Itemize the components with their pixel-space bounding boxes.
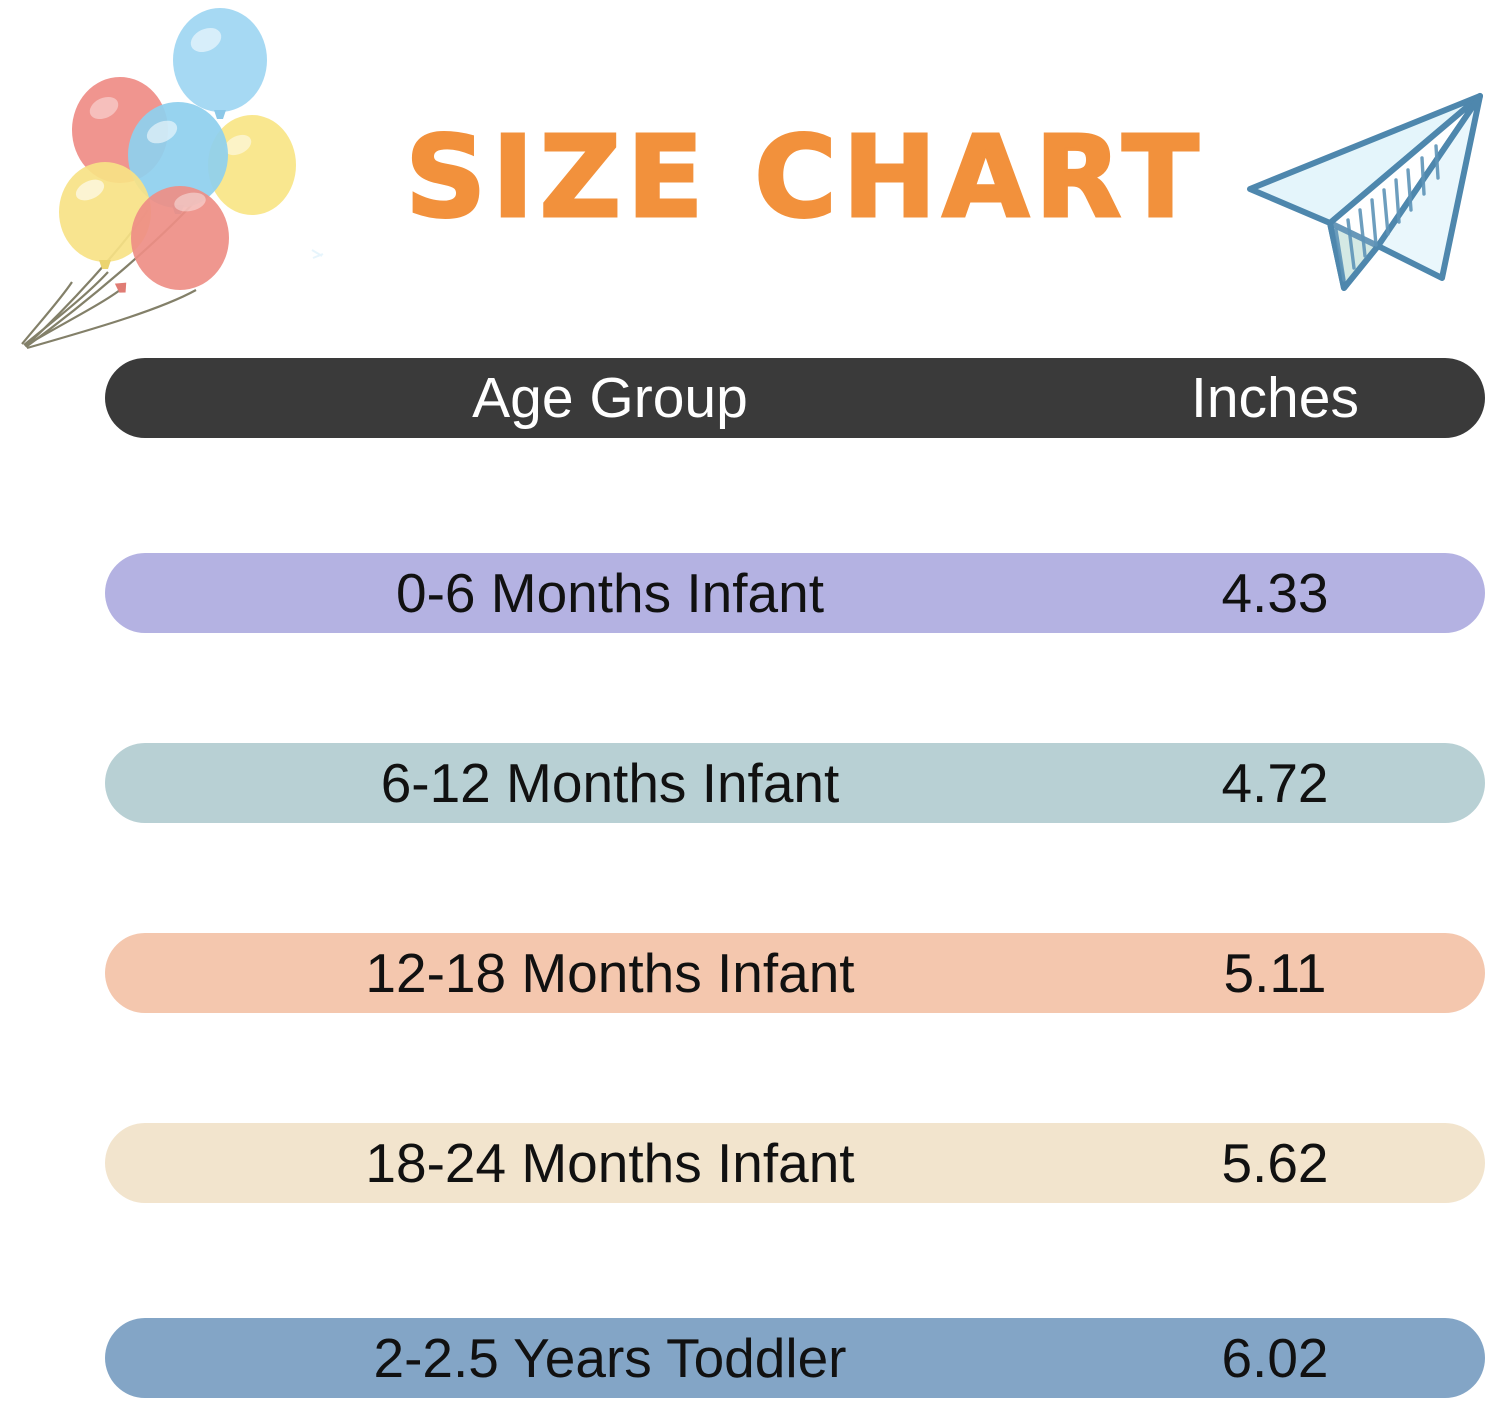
row-age-group-label: 2-2.5 Years Toddler (105, 1318, 1115, 1398)
table-header-row: Age Group Inches (105, 358, 1485, 438)
table-row: 18-24 Months Infant 5.62 (105, 1123, 1485, 1203)
table-row: 2-2.5 Years Toddler 6.02 (105, 1318, 1485, 1398)
row-age-group-label: 12-18 Months Infant (105, 933, 1115, 1013)
row-age-group-label: 6-12 Months Infant (105, 743, 1115, 823)
header-inches: Inches (1115, 358, 1435, 438)
row-age-group-label: 18-24 Months Infant (105, 1123, 1115, 1203)
row-inches-value: 4.33 (1115, 553, 1435, 633)
row-age-group-label: 0-6 Months Infant (105, 553, 1115, 633)
row-inches-value: 4.72 (1115, 743, 1435, 823)
table-row: 12-18 Months Infant 5.11 (105, 933, 1485, 1013)
row-inches-value: 6.02 (1115, 1318, 1435, 1398)
header-age-group: Age Group (105, 358, 1115, 438)
row-inches-value: 5.62 (1115, 1123, 1435, 1203)
row-inches-value: 5.11 (1115, 933, 1435, 1013)
table-row: 6-12 Months Infant 4.72 (105, 743, 1485, 823)
table-row: 0-6 Months Infant 4.33 (105, 553, 1485, 633)
size-chart-page: SIZE CHART Ag (0, 0, 1497, 1414)
size-chart-table: Age Group Inches 0-6 Months Infant 4.33 … (0, 0, 1497, 1414)
